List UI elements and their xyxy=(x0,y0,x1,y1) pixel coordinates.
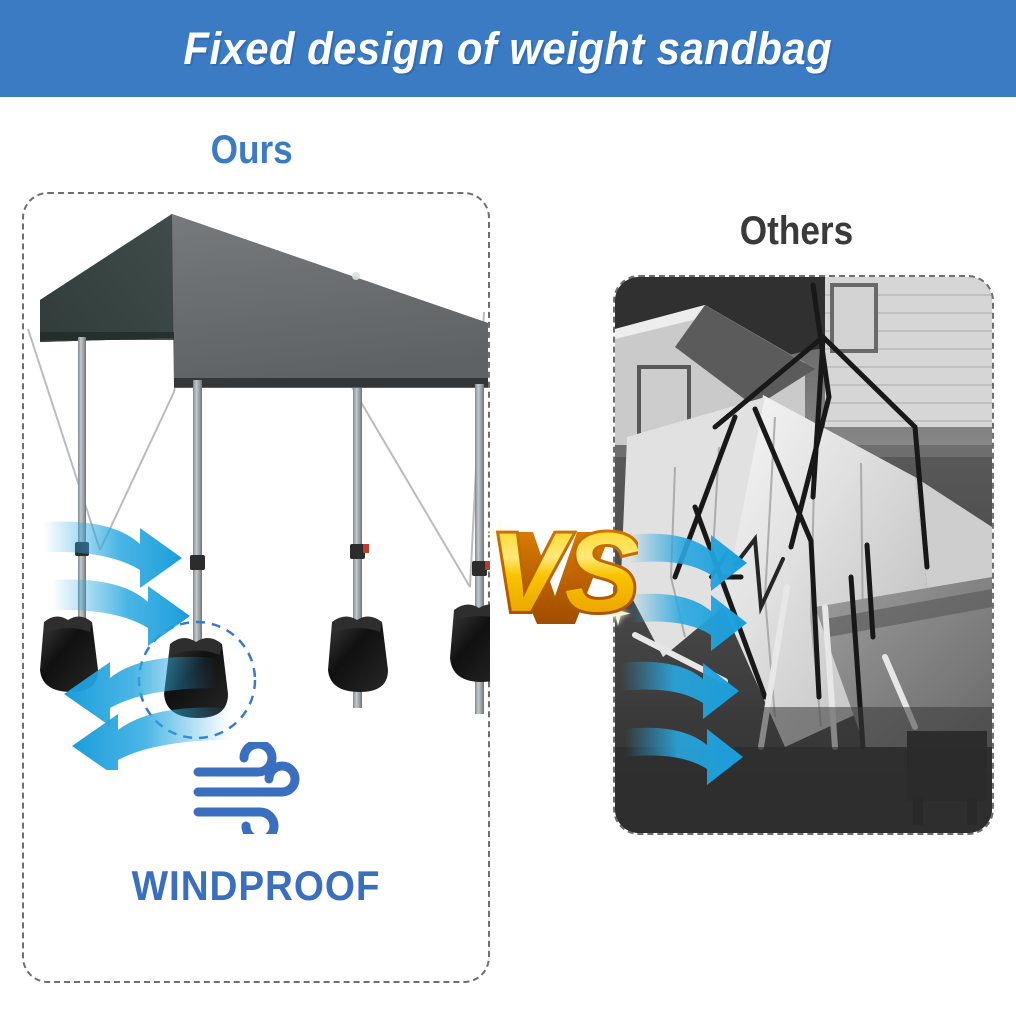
canopy-roof-front xyxy=(172,214,488,388)
collapsed-tent-photo xyxy=(615,277,992,833)
windproof-caption: WINDPROOF xyxy=(20,862,491,910)
comparison-infographic: Fixed design of weight sandbag Ours xyxy=(0,0,1016,1016)
page-title: Fixed design of weight sandbag xyxy=(184,23,833,75)
wind-arrow xyxy=(52,579,190,646)
vs-badge: VS xyxy=(478,505,638,630)
wind-icon xyxy=(186,742,316,834)
header-banner: Fixed design of weight sandbag xyxy=(0,0,1016,97)
vs-letters: VS xyxy=(490,510,638,630)
label-others: Others xyxy=(740,209,853,254)
wind-arrows-ours xyxy=(22,440,382,770)
wind-arrow xyxy=(44,521,182,588)
label-ours: Ours xyxy=(211,128,293,173)
svg-text:VS: VS xyxy=(490,510,638,630)
